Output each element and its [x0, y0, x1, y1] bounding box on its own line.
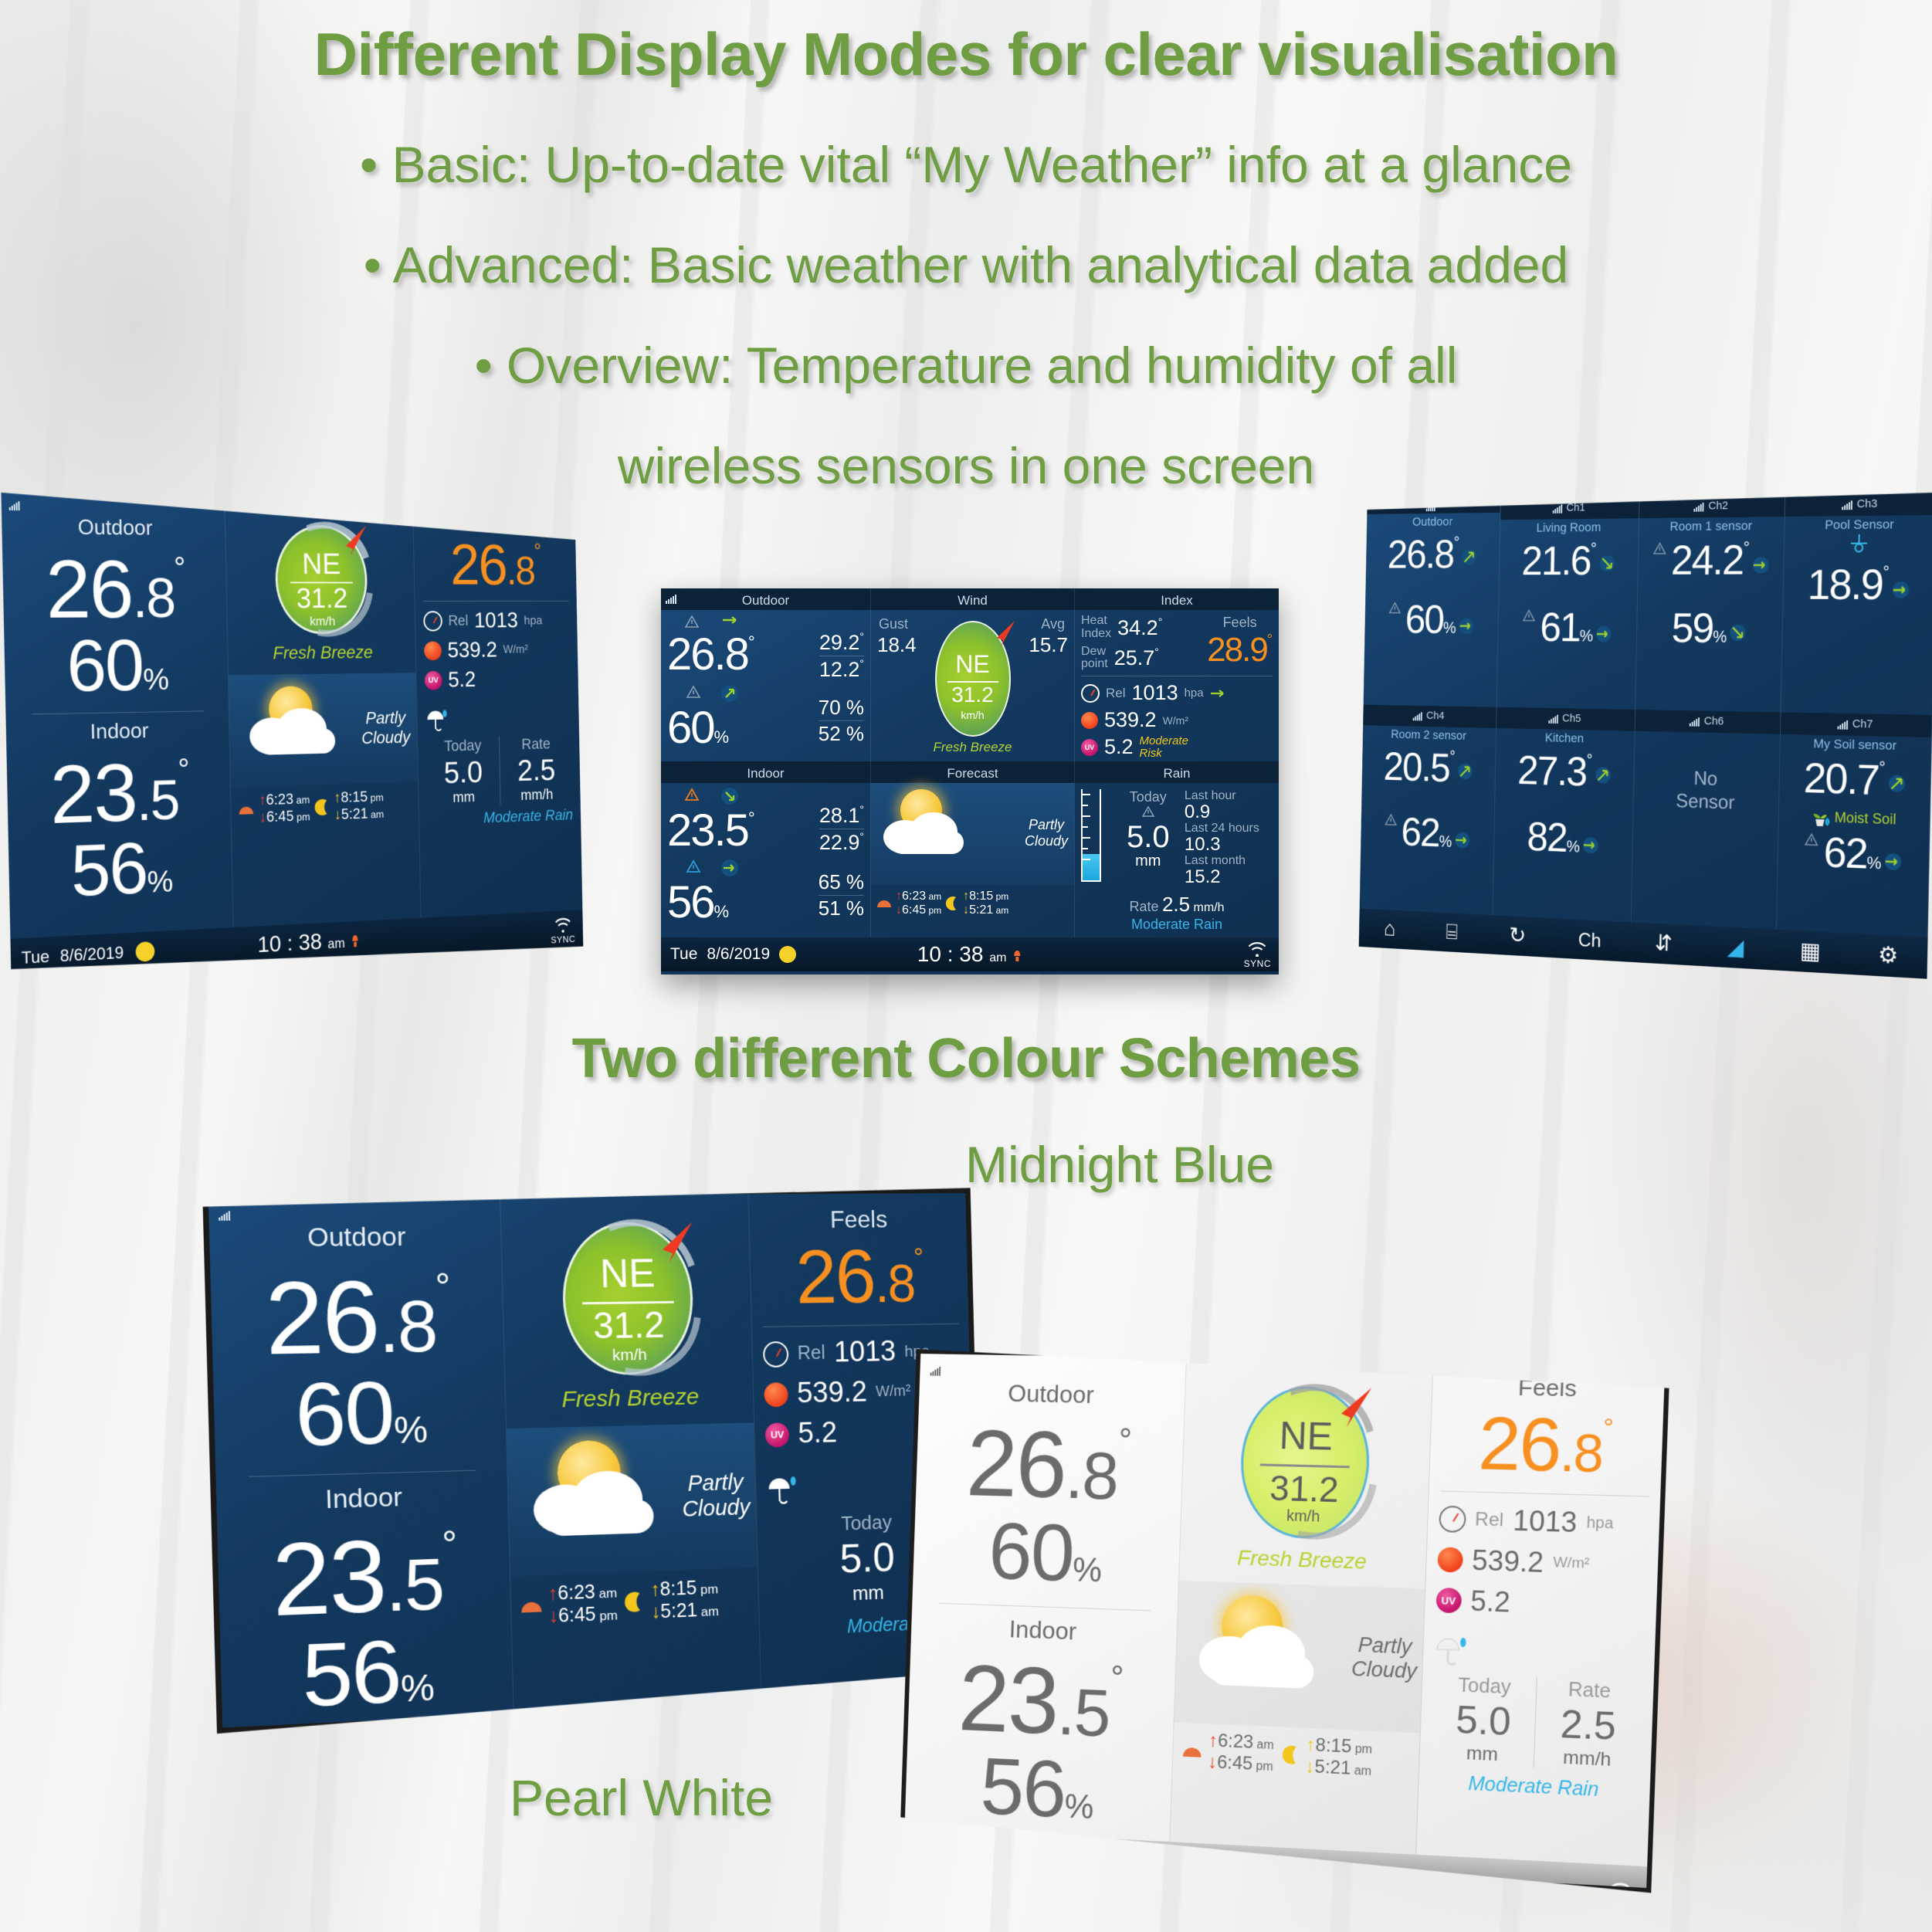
- pearl-wind-speed: 31.2: [1242, 1466, 1367, 1511]
- solar-icon: [1437, 1547, 1463, 1572]
- wind-compass: NE 31.2 km/h: [561, 1222, 694, 1376]
- rain-umbrella-icon: [767, 1476, 798, 1507]
- advanced-rain-lastmonth: 15.2: [1185, 868, 1273, 886]
- advanced-pressure-label: Rel: [1106, 686, 1126, 701]
- basic-outdoor-temp: 26: [45, 542, 133, 635]
- alert-triangle-icon: [1652, 541, 1667, 554]
- advanced-gust-label: Gust: [879, 616, 908, 632]
- basic-rain-today-label: Today: [425, 737, 499, 756]
- signal-icon: [219, 1210, 230, 1221]
- midnight-sunset: 6:45: [558, 1604, 596, 1627]
- advanced-section-outdoor: Outdoor: [661, 588, 871, 610]
- advanced-heat-index-label: Heat Index: [1081, 615, 1111, 641]
- pearl-wind-unit: km/h: [1242, 1507, 1365, 1528]
- basic-status-date: 8/6/2019: [59, 943, 124, 966]
- trend-right-icon: [721, 615, 741, 625]
- overview-sensor-name: My Soil sensor: [1780, 735, 1931, 754]
- advanced-gust: 18.4: [877, 633, 917, 657]
- sunrise-icon: [1181, 1742, 1204, 1760]
- midnight-wind-description: Fresh Breeze: [505, 1383, 753, 1415]
- uv-icon: UV: [1435, 1588, 1462, 1613]
- pearl-solar-unit: W/m²: [1553, 1554, 1590, 1573]
- basic-outdoor-humidity: 60: [66, 625, 144, 707]
- midnight-indoor-temp: 23: [270, 1518, 386, 1638]
- moon-phase-icon: [779, 946, 796, 963]
- overview-humidity: 59: [1671, 604, 1713, 651]
- alert-triangle-icon: [684, 788, 700, 802]
- advanced-outdoor-temp: 26.8: [667, 629, 748, 680]
- advanced-rain-today-label: Today: [1112, 789, 1185, 805]
- partly-cloudy-icon: [527, 1435, 676, 1556]
- basic-sync-label: SYNC: [551, 934, 575, 946]
- bullet-advanced: • Advanced: Basic weather with analytica…: [0, 236, 1932, 296]
- midnight-outdoor-humidity: 60: [293, 1363, 395, 1466]
- advanced-wind-speed: 31.2: [937, 683, 1009, 707]
- advanced-sync-label: SYNC: [1244, 958, 1271, 969]
- advanced-outdoor-temp-high: 29.2: [819, 631, 860, 654]
- overview-sensor-name: Kitchen: [1496, 729, 1634, 747]
- signal-icon: [1842, 500, 1852, 510]
- pressure-gauge-icon: [1439, 1506, 1466, 1533]
- pearl-outdoor-humidity: 60: [988, 1507, 1075, 1598]
- overview-humidity: 62: [1823, 828, 1867, 877]
- signal-icon: [1837, 719, 1848, 729]
- wind-needle-icon: [336, 521, 374, 561]
- sunrise-icon: [876, 897, 893, 910]
- basic-sunrise: 6:23: [266, 791, 293, 808]
- pearl-rain-description: Moderate Rain: [1429, 1771, 1639, 1803]
- wind-needle-icon: [1327, 1381, 1381, 1435]
- advanced-section-forecast: Forecast: [871, 761, 1075, 783]
- pearl-moonrise: 8:15: [1315, 1734, 1352, 1757]
- midnight-sunrise: 6:23: [558, 1581, 595, 1605]
- wind-compass: NE 31.2 km/h: [935, 621, 1011, 737]
- basic-feels-value: 26: [449, 532, 507, 596]
- pearl-wind-description: Fresh Breeze: [1180, 1544, 1426, 1576]
- signal-icon: [1690, 717, 1700, 727]
- advanced-section-index: Index: [1075, 588, 1279, 610]
- bullet-basic: • Basic: Up-to-date vital “My Weather” i…: [0, 135, 1932, 195]
- advanced-rain-today: 5.0: [1112, 822, 1185, 852]
- soil-plant-icon: [1811, 808, 1830, 826]
- midnight-feels-decimal: .8: [874, 1254, 915, 1313]
- moon-icon: [314, 798, 331, 817]
- overview-sensor-name: Living Room: [1500, 520, 1639, 536]
- signal-icon: [930, 1366, 941, 1376]
- overview-temp-trend-icon: [1752, 557, 1768, 574]
- midnight-wind-unit: km/h: [567, 1345, 693, 1366]
- overview-temperature: 27.3: [1517, 747, 1587, 795]
- overview-channel-label: Ch4: [1426, 708, 1445, 724]
- advanced-outdoor-humidity: 60: [667, 703, 714, 753]
- sync-refresh-icon[interactable]: ↻: [1509, 925, 1526, 947]
- alarm-icon: [1012, 949, 1022, 963]
- alert-triangle-icon: [1522, 608, 1536, 622]
- pearl-indoor-temp: 23: [957, 1646, 1059, 1754]
- advanced-outdoor-temp-low: 12.2: [819, 658, 860, 681]
- advanced-section-wind: Wind: [871, 588, 1075, 610]
- midnight-indoor-label: Indoor: [216, 1480, 508, 1519]
- signal-icon: [666, 594, 676, 604]
- trend-right-icon: [1210, 689, 1229, 698]
- alert-triangle-icon: [686, 859, 701, 873]
- label-midnight-blue: Midnight Blue: [965, 1135, 1274, 1194]
- basic-uv: 5.2: [448, 668, 476, 693]
- moon-times: ↑8:15 pm ↓5:21 am: [623, 1577, 720, 1625]
- advanced-sunrise: 6:23: [902, 890, 926, 903]
- advanced-forecast-text: Partly Cloudy: [1025, 817, 1068, 849]
- basic-pressure: 1013: [474, 608, 518, 633]
- moon-icon: [944, 896, 960, 911]
- advanced-section-indoor: Indoor: [661, 761, 871, 783]
- pearl-forecast-text: Partly Cloudy: [1351, 1633, 1418, 1684]
- pearl-outdoor-temp: 26: [965, 1412, 1068, 1519]
- basic-indoor-humidity: 56: [70, 828, 148, 912]
- advanced-indoor-temp-low: 22.9: [819, 831, 860, 854]
- basic-moonrise: 8:15: [341, 789, 368, 806]
- label-pearl-white: Pearl White: [510, 1768, 773, 1827]
- pearl-feels-value: 26: [1477, 1402, 1562, 1487]
- midnight-pressure: 1013: [834, 1336, 897, 1369]
- basic-pressure-label: Rel: [448, 612, 468, 629]
- moon-icon: [623, 1590, 646, 1614]
- bullet-overview: • Overview: Temperature and humidity of …: [0, 336, 1932, 396]
- advanced-solar: 539.2: [1104, 708, 1157, 732]
- forecast-panel: Partly Cloudy: [871, 783, 1074, 885]
- sun-times: ↑6:23 am ↓6:45 pm: [237, 791, 310, 827]
- device-overview-mode[interactable]: Outdoor 26.8° 60% Ch1Living Room 21.6° 6…: [1359, 493, 1932, 979]
- moon-times: ↑8:15 pm ↓5:21 am: [314, 788, 384, 825]
- uv-icon: UV: [1081, 739, 1098, 756]
- pressure-gauge-icon: [1081, 684, 1100, 703]
- overview-temp-trend-icon: [1595, 767, 1611, 783]
- advanced-rain-lasthour: 0.9: [1185, 803, 1273, 822]
- overview-humidity: 82: [1527, 812, 1567, 859]
- advanced-outdoor-humidity-high: 70 %: [819, 696, 864, 720]
- alert-triangle-icon: [1385, 812, 1398, 825]
- midnight-pressure-label: Rel: [797, 1342, 825, 1364]
- advanced-section-rain: Rain: [1075, 761, 1279, 783]
- wind-compass: NE 31.2 km/h: [275, 524, 368, 634]
- basic-indoor-temp-decimal: .5: [136, 768, 179, 832]
- midnight-indoor-temp-decimal: .5: [385, 1544, 444, 1626]
- overview-cell-ch7[interactable]: Ch7My Soil sensor 20.7° Moist Soil 62%: [1776, 712, 1932, 937]
- overview-temp-trend-icon: [1893, 581, 1910, 598]
- pressure-gauge-icon: [763, 1341, 789, 1367]
- wifi-icon: [552, 917, 573, 934]
- advanced-clock-ampm: am: [989, 951, 1006, 964]
- overview-sensor-name: Room 1 sensor: [1639, 518, 1785, 534]
- overview-temperature: 20.5: [1383, 743, 1449, 790]
- alert-triangle-icon: [686, 685, 701, 699]
- advanced-heat-index: 34.2: [1117, 616, 1158, 639]
- advanced-clock-minutes: 38: [959, 942, 983, 966]
- basic-forecast-text: Partly Cloudy: [361, 708, 410, 748]
- advanced-moonrise: 8:15: [969, 890, 993, 903]
- overview-humidity-trend-icon: [1583, 836, 1598, 853]
- overview-cell-ch6[interactable]: Ch6No Sensor: [1632, 710, 1781, 930]
- overview-humidity-trend-icon: [1455, 832, 1469, 848]
- basic-outdoor-humidity-unit: %: [143, 663, 169, 697]
- advanced-rain-rate-unit: mm/h: [1194, 901, 1225, 914]
- moon-icon: [1280, 1744, 1302, 1766]
- advanced-indoor-humidity: 56: [667, 877, 714, 927]
- pearl-indoor-temp-decimal: .5: [1056, 1673, 1110, 1751]
- sun-times: ↑6:23 am ↓6:45 pm: [876, 890, 941, 917]
- overview-temp-trend-icon: [1462, 549, 1476, 565]
- overview-temperature: 24.2: [1670, 535, 1743, 582]
- basic-clock-hours: 10: [257, 932, 281, 958]
- home-icon[interactable]: ⌂: [1384, 918, 1396, 940]
- overview-cell-outdoor[interactable]: Outdoor 26.8° 60%: [1364, 499, 1501, 707]
- device-midnight-blue[interactable]: Outdoor 26.8° 60% Indoor 23.5° 56%: [202, 1188, 983, 1734]
- overview-temp-trend-icon: [1888, 774, 1905, 791]
- overview-humidity-trend-icon: [1885, 852, 1902, 870]
- moon-times: ↑8:15 pm ↓5:21 am: [944, 890, 1008, 917]
- calendar-icon[interactable]: ▦: [1799, 940, 1821, 964]
- pearl-moonset: 5:21: [1314, 1757, 1351, 1779]
- advanced-feels-label: Feels: [1207, 615, 1273, 631]
- colour-schemes-title: Two different Colour Schemes: [0, 1027, 1932, 1090]
- advanced-indoor-temp-high: 28.1: [819, 804, 860, 827]
- pearl-outdoor-label: Outdoor: [919, 1378, 1185, 1411]
- advanced-avg-label: Avg: [1041, 616, 1065, 632]
- trend-down-right-icon: [721, 788, 738, 805]
- settings-wrench-icon[interactable]: ⚙: [1878, 944, 1899, 968]
- advanced-status-day: Tue: [670, 945, 697, 964]
- advanced-feels: 28.9: [1207, 631, 1267, 669]
- alert-triangle-icon: [1141, 805, 1155, 818]
- alert-triangle-icon: [1805, 832, 1819, 846]
- basic-status-day: Tue: [21, 947, 49, 968]
- pool-thermometer-icon: [1784, 530, 1932, 558]
- midnight-solar: 539.2: [797, 1376, 868, 1410]
- basic-rain-today-unit: mm: [427, 788, 500, 808]
- solar-icon: [424, 642, 442, 661]
- midnight-feels-label: Feels: [760, 1205, 957, 1235]
- basic-wind-unit: km/h: [279, 614, 367, 629]
- basic-sunset: 6:45: [266, 808, 294, 825]
- channel-icon[interactable]: Ch: [1578, 930, 1602, 950]
- basic-pressure-unit: hpa: [524, 613, 542, 628]
- sunrise-icon: [519, 1596, 544, 1615]
- advanced-avg: 15.7: [1029, 633, 1068, 657]
- pearl-feels-decimal: .8: [1559, 1423, 1603, 1484]
- solar-icon: [764, 1382, 788, 1407]
- signal-icon: [1413, 711, 1422, 720]
- advanced-pressure-unit: hpa: [1185, 686, 1204, 700]
- report-search-icon[interactable]: ⌸: [1446, 921, 1458, 944]
- pearl-rain-rate: 2.5: [1535, 1700, 1642, 1751]
- advanced-dew-label: Dew point: [1081, 646, 1108, 672]
- advanced-solar-unit: W/m²: [1163, 714, 1188, 727]
- wind-needle-icon: [648, 1215, 702, 1269]
- basic-wind-speed: 31.2: [278, 583, 366, 615]
- advanced-uv: 5.2: [1104, 735, 1134, 759]
- basic-clock-minutes: 38: [298, 930, 322, 955]
- uv-icon: UV: [425, 671, 442, 690]
- midnight-moonset: 5:21: [660, 1599, 697, 1622]
- overview-cell-ch1[interactable]: Ch1Living Room 21.6° 61%: [1496, 497, 1639, 710]
- partly-cloudy-icon: [1193, 1591, 1340, 1712]
- pearl-solar: 539.2: [1472, 1544, 1544, 1580]
- advanced-wind-unit: km/h: [937, 709, 1009, 721]
- wifi-icon: [1246, 941, 1269, 957]
- signal-icon: [1553, 503, 1563, 513]
- overview-humidity: 62: [1401, 808, 1439, 855]
- forecast-panel: Partly Cloudy: [229, 673, 418, 787]
- signal-icon: [1694, 502, 1704, 512]
- advanced-status-date: 8/6/2019: [707, 945, 770, 964]
- pearl-rain-today-unit: mm: [1430, 1741, 1534, 1768]
- advanced-dew-point: 25.7: [1114, 646, 1155, 669]
- midnight-moonrise: 8:15: [659, 1578, 697, 1601]
- pressure-gauge-icon: [423, 611, 442, 631]
- overview-humidity-trend-icon: [1730, 624, 1746, 641]
- overview-humidity: 60: [1405, 596, 1443, 642]
- uv-icon: UV: [765, 1422, 790, 1447]
- wind-needle-icon: [989, 618, 1020, 650]
- overview-temperature: 20.7: [1803, 753, 1879, 803]
- page-title: Different Display Modes for clear visual…: [0, 19, 1932, 90]
- overview-temp-trend-icon: [1458, 763, 1473, 779]
- advanced-wind-direction: NE: [937, 650, 1009, 679]
- basic-rain-description: Moderate Rain: [427, 807, 573, 829]
- basic-solar: 539.2: [447, 638, 497, 663]
- moon-phase-icon: [135, 941, 154, 962]
- overview-soil-label: Moist Soil: [1834, 809, 1896, 828]
- midnight-indoor-humidity-unit: %: [400, 1667, 435, 1710]
- basic-rain-rate-label: Rate: [500, 735, 571, 754]
- overview-cell-ch4[interactable]: Ch4Room 2 sensor 20.5° 62%: [1360, 705, 1496, 916]
- basic-indoor-label: Indoor: [6, 717, 229, 745]
- midnight-solar-unit: W/m²: [876, 1383, 911, 1401]
- pearl-uv: 5.2: [1470, 1585, 1511, 1618]
- sun-times: ↑6:23 am ↓6:45 pm: [518, 1581, 618, 1629]
- midnight-outdoor-temp-decimal: .8: [378, 1287, 437, 1368]
- advanced-clock-hours: 10: [917, 942, 941, 966]
- pearl-sunrise: 6:23: [1218, 1730, 1254, 1753]
- advanced-uv-risk: Moderate Risk: [1140, 735, 1188, 760]
- advanced-rain-description: Moderate Rain: [1081, 917, 1273, 933]
- device-advanced-mode[interactable]: Outdoor Wind Index 26.8°: [661, 588, 1279, 974]
- sun-times: ↑6:23 am ↓6:45 pm: [1180, 1729, 1274, 1776]
- overview-sensor-name: Room 2 sensor: [1363, 727, 1496, 744]
- rain-umbrella-icon: [1434, 1637, 1468, 1668]
- wind-compass: NE 31.2 km/h: [1239, 1385, 1372, 1540]
- advanced-wind-description: Fresh Breeze: [871, 740, 1074, 755]
- overview-humidity: 61: [1540, 603, 1581, 649]
- advanced-moonset: 5:21: [969, 903, 993, 917]
- midnight-indoor-humidity: 56: [300, 1622, 402, 1726]
- alert-triangle-icon: [684, 615, 700, 629]
- basic-outdoor-label: Outdoor: [2, 514, 225, 541]
- pearl-sunset: 6:45: [1217, 1752, 1253, 1774]
- advanced-outdoor-label: Outdoor: [742, 593, 789, 608]
- sunrise-icon: [237, 802, 256, 818]
- rain-umbrella-icon: [425, 710, 449, 732]
- signal-icon: [1548, 713, 1558, 724]
- overview-cell-ch2[interactable]: Ch2Room 1 sensor 24.2° 59%: [1635, 495, 1785, 713]
- overview-temperature: 26.8: [1387, 531, 1453, 577]
- overview-sensor-name: Outdoor: [1367, 514, 1500, 530]
- trend-right-icon: [721, 859, 738, 876]
- basic-indoor-humidity-unit: %: [147, 865, 173, 899]
- midnight-outdoor-temp: 26: [263, 1259, 380, 1377]
- overview-channel-label: Ch6: [1704, 713, 1724, 730]
- device-basic-mode[interactable]: Outdoor 26.8° 60% Indoor 23.5° 56%: [1, 493, 583, 979]
- overview-humidity-trend-icon: [1459, 618, 1473, 634]
- basic-rain-rate-unit: mm/h: [501, 786, 573, 805]
- advanced-rain-last24: 10.3: [1185, 836, 1273, 854]
- advanced-indoor-temp: 23.5: [667, 805, 748, 856]
- advanced-rain-rate: 2.5: [1162, 893, 1190, 916]
- advanced-indoor-humidity-low: 51 %: [819, 897, 864, 920]
- overview-temperature: 21.6: [1521, 537, 1591, 583]
- overview-channel-label: Ch5: [1562, 710, 1581, 727]
- overview-temperature: 18.9: [1807, 560, 1883, 608]
- advanced-indoor-humidity-high: 65 %: [819, 870, 864, 894]
- overview-channel-label: Ch3: [1856, 496, 1877, 514]
- basic-rain-today: 5.0: [426, 754, 500, 791]
- chart-icon[interactable]: ◢: [1727, 936, 1744, 959]
- alert-triangle-icon: [1388, 602, 1402, 615]
- basic-indoor-temp: 23: [49, 746, 137, 841]
- basic-clock-ampm: am: [327, 936, 345, 951]
- solar-icon: [1081, 712, 1098, 729]
- basic-outdoor-temp-decimal: .8: [132, 567, 175, 629]
- basic-rain-rate: 2.5: [500, 752, 573, 788]
- forecast-panel: Partly Cloudy: [1174, 1581, 1425, 1733]
- advanced-sunset: 6:45: [902, 903, 926, 917]
- device-pearl-white[interactable]: Outdoor 26.8° 60% Indoor 23.5° 56%: [900, 1349, 1670, 1893]
- bullet-overview-cont: wireless sensors in one screen: [0, 436, 1932, 497]
- midnight-wind-speed: 31.2: [565, 1303, 691, 1347]
- partly-cloudy-icon: [245, 683, 351, 766]
- moon-times: ↑8:15 pm ↓5:21 am: [1279, 1733, 1373, 1781]
- advanced-rain-rate-label: Rate: [1129, 899, 1158, 914]
- pearl-indoor-humidity: 56: [979, 1741, 1066, 1835]
- midnight-outdoor-humidity-unit: %: [393, 1409, 428, 1452]
- advanced-pressure: 1013: [1132, 681, 1178, 705]
- overview-cell-ch3[interactable]: Ch3Pool Sensor 18.9°: [1781, 493, 1932, 715]
- pearl-pressure-label: Rel: [1475, 1509, 1504, 1531]
- rain-gauge-icon: [1081, 789, 1101, 882]
- overview-no-sensor: No Sensor: [1634, 764, 1779, 815]
- partly-cloudy-icon: [880, 788, 981, 873]
- midnight-forecast-text: Partly Cloudy: [681, 1470, 751, 1523]
- pearl-outdoor-temp-decimal: .8: [1064, 1437, 1119, 1513]
- alarm-icon: [351, 934, 361, 949]
- basic-moonset: 5:21: [341, 805, 368, 822]
- midnight-outdoor-label: Outdoor: [209, 1222, 501, 1255]
- midnight-feels-value: 26: [795, 1234, 876, 1320]
- midnight-uv: 5.2: [798, 1417, 838, 1450]
- signal-icon: [9, 500, 20, 510]
- basic-feels-decimal: .8: [506, 547, 534, 592]
- overview-humidity-trend-icon: [1596, 625, 1612, 642]
- advanced-status-bar: Tue 8/6/2019 10 : 38 am SYNC: [661, 937, 1279, 971]
- pearl-rain-today: 5.0: [1431, 1696, 1536, 1745]
- pearl-pressure-unit: hpa: [1586, 1513, 1614, 1532]
- pearl-pressure: 1013: [1513, 1504, 1578, 1539]
- pearl-rain-rate-unit: mm/h: [1534, 1746, 1640, 1773]
- advanced-outdoor-humidity-low: 52 %: [819, 722, 864, 746]
- minmax-icon[interactable]: ⇵: [1655, 932, 1673, 955]
- overview-channel-label: Ch7: [1852, 716, 1873, 734]
- overview-cell-ch5[interactable]: Ch5Kitchen 27.3° 82%: [1493, 707, 1635, 923]
- basic-solar-unit: W/m²: [503, 643, 528, 656]
